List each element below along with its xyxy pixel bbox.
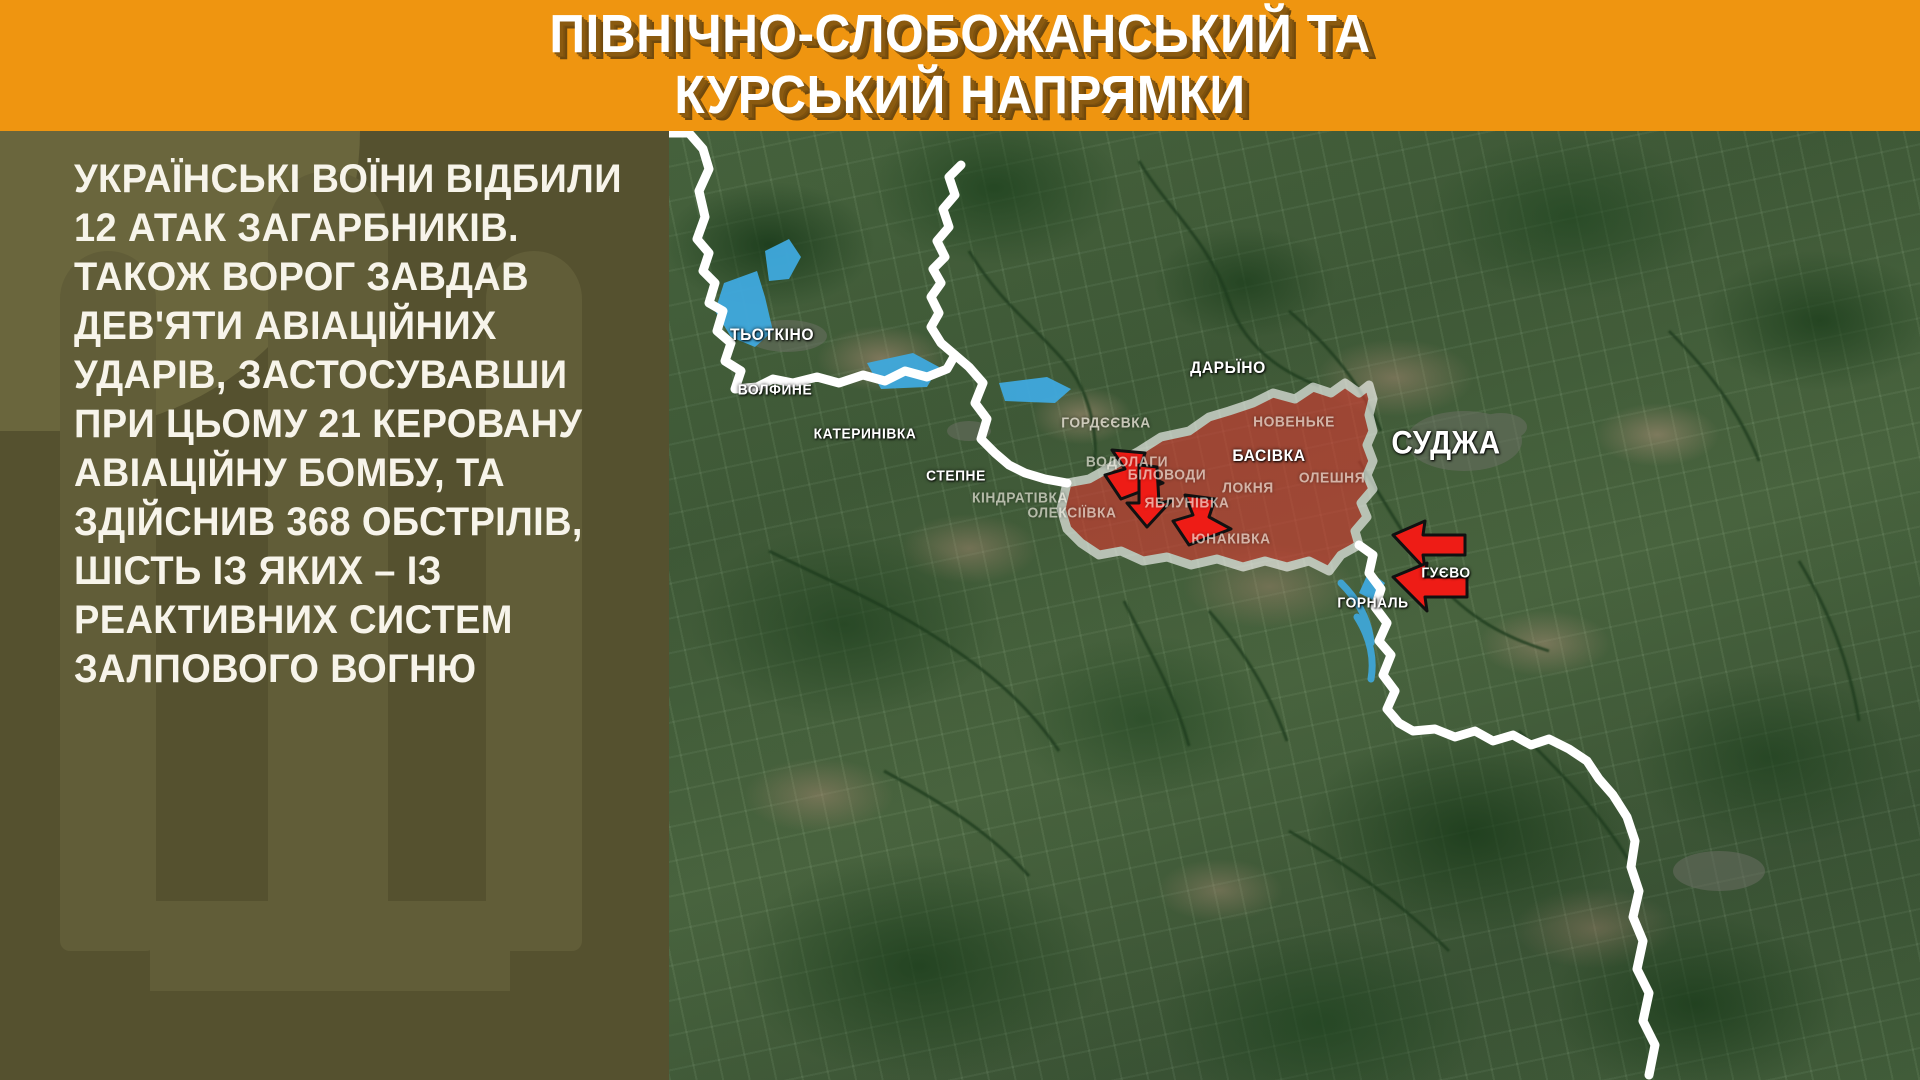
infographic-poster: ПІВНІЧНО-СЛОБОЖАНСЬКИЙ ТА КУРСЬКИЙ НАПРЯ…	[0, 0, 1920, 1080]
state-border-line	[669, 133, 961, 389]
watermark-trident-base	[150, 901, 510, 991]
summary-body-text: УКРАЇНСЬКІ ВОЇНИ ВІДБИЛИ 12 АТАК ЗАГАРБН…	[74, 155, 625, 694]
header-banner: ПІВНІЧНО-СЛОБОЖАНСЬКИЙ ТА КУРСЬКИЙ НАПРЯ…	[0, 0, 1920, 131]
page-title: ПІВНІЧНО-СЛОБОЖАНСЬКИЙ ТА КУРСЬКИЙ НАПРЯ…	[77, 4, 1843, 126]
summary-text-panel: УКРАЇНСЬКІ ВОЇНИ ВІДБИЛИ 12 АТАК ЗАГАРБН…	[0, 131, 669, 1080]
frontline-layer	[669, 131, 1920, 1080]
satellite-map: ТЬОТКІНОВОЛФИНЕКАТЕРИНІВКАСТЕПНЕГОРДЄЄВК…	[669, 131, 1920, 1080]
